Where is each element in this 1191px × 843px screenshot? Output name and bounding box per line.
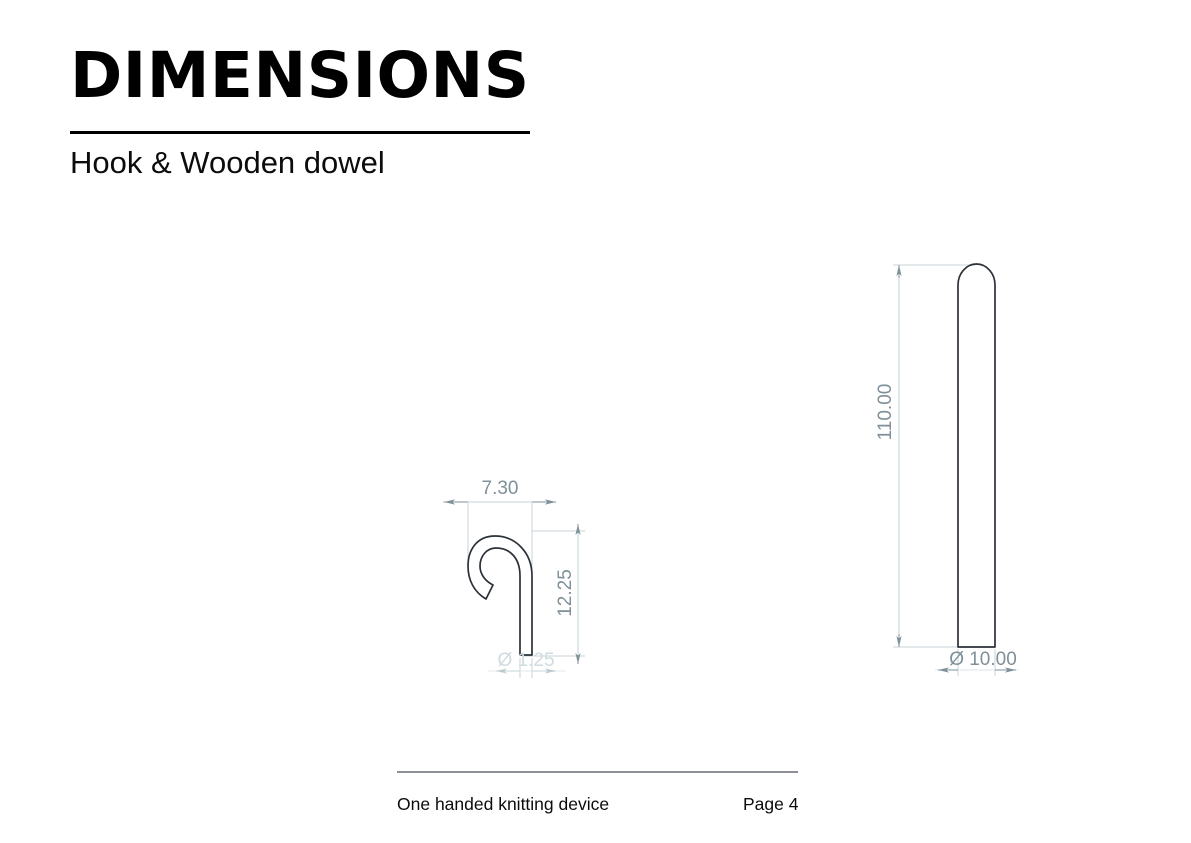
hook-profile-outline <box>468 536 532 655</box>
wooden-dowel-view: 110.00 Ø 10.00 <box>875 264 1018 676</box>
dowel-diameter-value: Ø 10.00 <box>949 649 1017 670</box>
dimension-hook-width: 7.30 <box>443 478 556 502</box>
hook-body-path <box>468 536 532 655</box>
dowel-length-value: 110.00 <box>875 384 896 441</box>
document-header: DIMENSIONS Hook & Wooden dowel <box>70 44 670 108</box>
page-title: DIMENSIONS <box>70 44 670 108</box>
dowel-extension-lines <box>893 265 995 676</box>
dimension-dowel-diameter: Ø 10.00 <box>935 649 1018 670</box>
dowel-body-path <box>958 264 995 647</box>
footer-page-number: Page 4 <box>743 794 798 815</box>
dimension-dowel-length: 110.00 <box>875 265 899 647</box>
hook-extension-lines <box>468 503 585 678</box>
page-subtitle: Hook & Wooden dowel <box>70 145 385 181</box>
hook-width-value: 7.30 <box>482 478 519 499</box>
dowel-profile-outline <box>958 264 995 647</box>
footer-divider <box>397 771 798 773</box>
hook-height-value: 12.25 <box>555 569 576 617</box>
document-page: DIMENSIONS Hook & Wooden dowel <box>0 0 1191 843</box>
dimension-hook-height: 12.25 <box>555 524 578 664</box>
technical-drawing-area: 7.30 12.25 Ø 1.25 <box>0 0 1191 843</box>
hook-diameter-value: Ø 1.25 <box>497 650 554 671</box>
title-divider <box>70 131 530 134</box>
footer-project-name: One handed knitting device <box>397 794 609 815</box>
hook-view: 7.30 12.25 Ø 1.25 <box>443 478 585 678</box>
dimension-hook-diameter: Ø 1.25 <box>488 650 566 671</box>
